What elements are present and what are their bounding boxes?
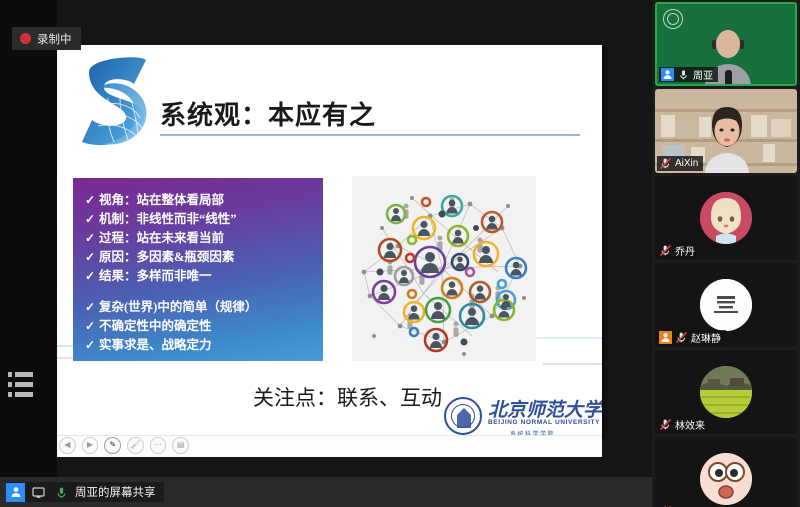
powerpoint-slide[interactable]: 系统观：本应有之 ✓ 视角：站在整体看局部 ✓ 机制：非线性而非“线性” ✓ 过… bbox=[57, 45, 602, 435]
bullet-text: 原因：多因素&瓶颈因素 bbox=[99, 248, 234, 267]
bullet-text: 过程：站在未来看当前 bbox=[99, 229, 224, 248]
check-icon: ✓ bbox=[85, 336, 99, 355]
bullet-item: ✓ 复杂(世界)中的简单（规律） bbox=[85, 298, 313, 317]
bullet-item: ✓ 视角：站在整体看局部 bbox=[85, 191, 313, 210]
previous-slide-button[interactable]: ◀ bbox=[59, 437, 76, 454]
outline-list-icon[interactable] bbox=[8, 372, 34, 406]
check-icon: ✓ bbox=[85, 248, 99, 267]
participant-tile[interactable]: AiXin bbox=[655, 89, 797, 173]
bullet-item: ✓ 原因：多因素&瓶颈因素 bbox=[85, 248, 313, 267]
avatar bbox=[700, 453, 752, 505]
record-dot-icon bbox=[20, 33, 31, 44]
check-icon: ✓ bbox=[85, 298, 99, 317]
more-options-button[interactable]: ⋯ bbox=[150, 437, 167, 454]
participant-tile[interactable]: 周亚 bbox=[655, 2, 797, 86]
avatar bbox=[700, 192, 752, 244]
participant-icon bbox=[6, 483, 25, 502]
slide-shadow bbox=[602, 45, 608, 440]
slide-title: 系统观：本应有之 bbox=[160, 95, 376, 132]
screen-share-status[interactable]: 周亚的屏幕共享 bbox=[6, 482, 164, 502]
bullet-text: 视角：站在整体看局部 bbox=[99, 191, 224, 210]
participant-tile[interactable]: 王亚坤 bbox=[655, 437, 797, 507]
recording-indicator[interactable]: 录制中 bbox=[12, 27, 81, 50]
participant-name: 赵琳静 bbox=[691, 330, 721, 345]
microphone-muted-icon bbox=[659, 418, 672, 431]
microphone-icon bbox=[52, 483, 71, 502]
bnu-name-cn: 北京师范大学 bbox=[488, 395, 602, 422]
microphone-muted-icon bbox=[659, 157, 672, 170]
bullet-text: 结果：多样而非唯一 bbox=[99, 267, 212, 286]
bnu-name-en: BEIJING NORMAL UNIVERSITY bbox=[488, 419, 600, 426]
presenter-controls[interactable]: ◀ ▶ ✎ 🖌 ⋯ ▤ bbox=[59, 434, 189, 456]
shelf-box bbox=[661, 115, 675, 137]
highlighter-tool-button[interactable]: 🖌 bbox=[127, 437, 144, 454]
bnu-logo: 北京师范大学 BEIJING NORMAL UNIVERSITY 系统科学学院 bbox=[444, 393, 596, 435]
bullet-text: 不确定性中的确定性 bbox=[99, 317, 212, 336]
next-slide-button[interactable]: ▶ bbox=[82, 437, 99, 454]
zoom-meeting-window: 系统观：本应有之 ✓ 视角：站在整体看局部 ✓ 机制：非线性而非“线性” ✓ 过… bbox=[0, 0, 800, 507]
university-seal-icon bbox=[663, 9, 683, 29]
shared-screen-region: 系统观：本应有之 ✓ 视角：站在整体看局部 ✓ 机制：非线性而非“线性” ✓ 过… bbox=[0, 0, 652, 477]
nameplate: AiXin bbox=[657, 156, 703, 171]
nameplate: 周亚 bbox=[659, 67, 718, 82]
avatar bbox=[700, 366, 752, 418]
participant-filmstrip[interactable]: 周亚 bbox=[652, 0, 800, 507]
check-icon: ✓ bbox=[85, 229, 99, 248]
host-icon bbox=[659, 331, 672, 344]
nameplate: 林效来 bbox=[657, 417, 710, 432]
screen-share-icon bbox=[29, 483, 48, 502]
microphone-muted-icon bbox=[675, 331, 688, 344]
shelf-box bbox=[678, 119, 696, 137]
pen-tool-button[interactable]: ✎ bbox=[104, 437, 121, 454]
bullet-item: ✓ 过程：站在未来看当前 bbox=[85, 229, 313, 248]
video-streak bbox=[527, 337, 602, 339]
check-icon: ✓ bbox=[85, 317, 99, 336]
meeting-status-bar: 周亚的屏幕共享 bbox=[0, 477, 652, 507]
bullet-text: 复杂(世界)中的简单（规律） bbox=[99, 298, 257, 317]
check-icon: ✓ bbox=[85, 267, 99, 286]
participant-tile[interactable]: 林效来 bbox=[655, 350, 797, 434]
microphone-muted-icon bbox=[659, 244, 672, 257]
check-icon: ✓ bbox=[85, 210, 99, 229]
check-icon: ✓ bbox=[85, 191, 99, 210]
avatar bbox=[700, 279, 752, 331]
bnu-seal-icon bbox=[444, 397, 482, 435]
shelf-box bbox=[771, 119, 791, 137]
shelf-box bbox=[751, 115, 767, 137]
bullet-item: ✓ 不确定性中的确定性 bbox=[85, 317, 313, 336]
participant-tile[interactable]: 乔丹 bbox=[655, 176, 797, 260]
participant-tile[interactable]: 赵琳静 bbox=[655, 263, 797, 347]
shelf-box bbox=[763, 144, 775, 162]
participant-name: AiXin bbox=[675, 158, 698, 169]
video-on-icon bbox=[661, 68, 674, 81]
share-label: 周亚的屏幕共享 bbox=[75, 484, 156, 500]
bullet-item: ✓ 机制：非线性而非“线性” bbox=[85, 210, 313, 229]
bullet-text: 机制：非线性而非“线性” bbox=[99, 210, 237, 229]
bullet-item: ✓ 结果：多样而非唯一 bbox=[85, 267, 313, 286]
microphone-icon bbox=[677, 68, 690, 81]
recording-label: 录制中 bbox=[37, 31, 72, 47]
slide-view-button[interactable]: ▤ bbox=[172, 437, 189, 454]
title-underline bbox=[160, 134, 580, 136]
slide-caption: 关注点：联系、互动 bbox=[253, 382, 442, 412]
bullet-panel: ✓ 视角：站在整体看局部 ✓ 机制：非线性而非“线性” ✓ 过程：站在未来看当前… bbox=[73, 178, 323, 361]
video-streak bbox=[543, 363, 602, 365]
webcam-person bbox=[701, 105, 753, 173]
participant-name: 乔丹 bbox=[675, 243, 695, 258]
participant-name: 林效来 bbox=[675, 417, 705, 432]
nameplate: 赵琳静 bbox=[657, 330, 726, 345]
participant-name: 周亚 bbox=[693, 67, 713, 82]
nameplate: 乔丹 bbox=[657, 243, 700, 258]
bullet-text: 实事求是、战略定力 bbox=[99, 336, 212, 355]
bullet-item: ✓ 实事求是、战略定力 bbox=[85, 336, 313, 355]
social-network-diagram bbox=[352, 176, 536, 361]
s-globe-logo bbox=[76, 54, 150, 150]
